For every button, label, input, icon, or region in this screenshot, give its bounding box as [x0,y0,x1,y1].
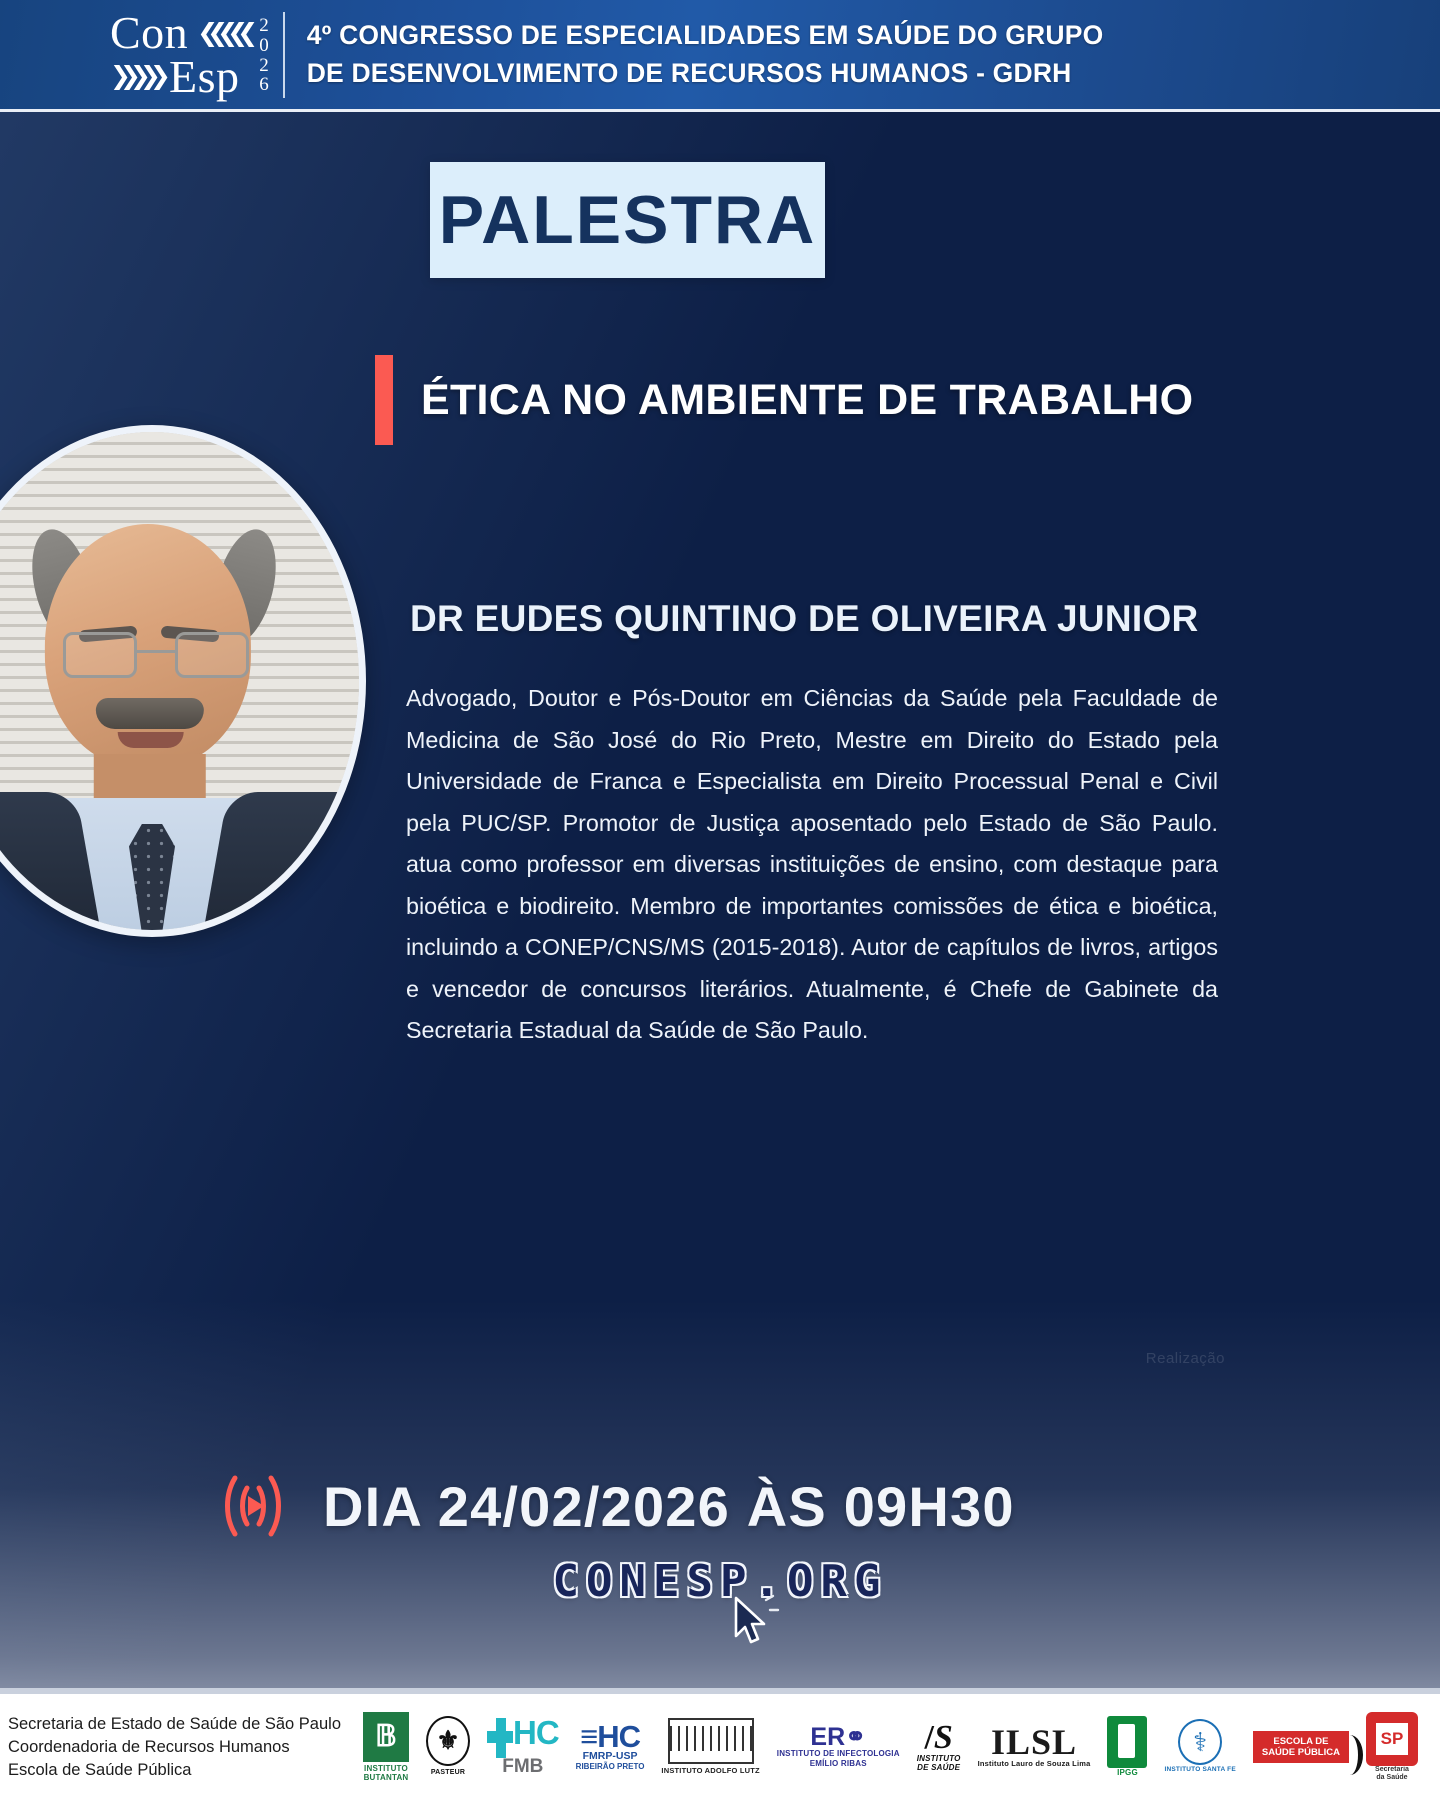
lecture-title: ÉTICA NO AMBIENTE DE TRABALHO [421,376,1193,425]
logo-wordmark: Con ❮❮❮❮❮ ❯❯❯❯❯ Esp [110,11,247,97]
hc-text: HC [513,1718,559,1748]
congress-title-line-2: DE DESENVOLVIMENTO DE RECURSOS HUMANOS -… [307,55,1104,93]
pasteur-caption: PASTEUR [431,1768,465,1778]
glasses-bridge [137,650,175,653]
logo-ilsl: ILSL Instituto Lauro de Souza Lima [978,1725,1091,1769]
poster-footer: Secretaria de Estado de Saúde de São Pau… [0,1688,1440,1800]
chevrons-left-icon: ❮❮❮❮❮ [197,22,247,44]
santa-fe-caption: INSTITUTO SANTA FE [1164,1765,1235,1775]
fmrp-caption: FMRP-USP [583,1751,638,1762]
fmb-text: FMB [502,1758,543,1776]
lens-right [175,632,249,678]
conesp-logo: Con ❮❮❮❮❮ ❯❯❯❯❯ Esp 2 0 2 6 [110,11,307,97]
logo-word-con: Con [110,11,188,54]
sp-caption: Secretariada Saúde [1375,1766,1409,1782]
butantan-icon: 𝔹 [363,1712,409,1762]
accent-bar [375,355,393,445]
congress-title-line-1: 4º CONGRESSO DE ESPECIALIDADES EM SAÚDE … [307,17,1104,55]
event-poster: Con ❮❮❮❮❮ ❯❯❯❯❯ Esp 2 0 2 6 [0,0,1440,1800]
esp-icon: ESCOLA DESAÚDE PÚBLICA [1253,1731,1349,1763]
lens-left [63,632,137,678]
event-date: DIA 24/02/2026 ÀS 09H30 [323,1474,1015,1539]
mouth [118,732,184,748]
year-digit-2: 0 [259,36,269,56]
logo-escola-saude-publica: ESCOLA DESAÚDE PÚBLICA [1253,1731,1349,1763]
emilio-ribas-icon: ER⚭ [810,1726,866,1749]
organizer-line-3: Escola de Saúde Pública [8,1759,341,1782]
logo-santa-fe: ⚕ INSTITUTO SANTA FE [1164,1719,1235,1775]
poster-header: Con ❮❮❮❮❮ ❯❯❯❯❯ Esp 2 0 2 6 [0,0,1440,112]
ilsl-caption: Instituto Lauro de Souza Lima [978,1759,1091,1769]
lecture-title-row: ÉTICA NO AMBIENTE DE TRABALHO [375,355,1400,445]
live-broadcast-icon [205,1466,301,1546]
speaker-name: DR EUDES QUINTINO DE OLIVEIRA JUNIOR [410,598,1400,640]
fmrp-subcaption: RIBEIRÃO PRETO [576,1762,645,1771]
logo-pasteur: ⚜ PASTEUR [426,1716,470,1778]
organizer-line-1: Secretaria de Estado de Saúde de São Pau… [8,1713,341,1736]
adolfo-lutz-building-icon [668,1718,754,1764]
butantan-caption: INSTITUTOBUTANTAN [364,1764,409,1783]
moustache [96,698,204,729]
event-date-row: DIA 24/02/2026 ÀS 09H30 [205,1466,1015,1546]
instituto-saude-icon: /S [924,1722,952,1754]
year-digit-3: 2 [259,56,269,76]
logo-word-esp: Esp [169,55,240,98]
ilsl-icon: ILSL [991,1725,1077,1759]
mouse-cursor-icon [726,1594,784,1657]
emilio-ribas-caption: INSTITUTO DE INFECTOLOGIAEMÍLIO RIBAS [777,1749,900,1768]
logo-emilio-ribas: ER⚭ INSTITUTO DE INFECTOLOGIAEMÍLIO RIBA… [777,1726,900,1768]
speaker-bio: Advogado, Doutor e Pós-Doutor em Ciência… [406,678,1218,1052]
hc-fmb-icon: HC [487,1718,559,1758]
ipgg-caption: IPGG [1117,1768,1138,1778]
chevrons-right-icon: ❯❯❯❯❯ [110,65,160,87]
pasteur-icon: ⚜ [426,1716,470,1766]
medical-cross-icon [487,1718,513,1758]
organizer-line-2: Coordenadoria de Recursos Humanos [8,1736,341,1759]
partner-logos: 𝔹 INSTITUTOBUTANTAN ⚜ PASTEUR HC FMB ≡ [363,1712,1418,1783]
logo-instituto-adolfo-lutz: INSTITUTO ADOLFO LUTZ [661,1718,759,1776]
palestra-badge-label: PALESTRA [439,181,816,259]
logo-fmrp-usp: ≡HC FMRP-USP RIBEIRÃO PRETO [576,1723,645,1771]
organizer-block: Secretaria de Estado de Saúde de São Pau… [8,1713,341,1782]
logo-governo-sao-paulo: SP Secretariada Saúde [1366,1712,1418,1782]
header-divider [283,12,285,98]
esp-swoosh-icon [1337,1735,1363,1775]
year-digit-4: 6 [259,75,269,95]
speaker-photo-inner [0,432,359,930]
logo-ipgg: IPGG [1107,1716,1147,1778]
fmrp-hc-icon: ≡HC [580,1723,640,1751]
santa-fe-icon: ⚕ [1178,1719,1222,1765]
instituto-saude-caption: INSTITUTODE SAÚDE [917,1754,961,1773]
ipgg-icon [1107,1716,1147,1768]
adolfo-lutz-caption: INSTITUTO ADOLFO LUTZ [661,1766,759,1776]
year-digit-1: 2 [259,16,269,36]
website-url[interactable]: CONESP.ORG [0,1556,1440,1607]
logo-butantan: 𝔹 INSTITUTOBUTANTAN [363,1712,409,1783]
watermark-text: Realização [1146,1350,1225,1367]
logo-hc-fmb: HC FMB [487,1718,559,1776]
logo-instituto-de-saude: /S INSTITUTODE SAÚDE [917,1722,961,1773]
logo-year: 2 0 2 6 [259,16,269,94]
sp-shield-icon: SP [1366,1712,1418,1766]
glasses-icon [63,632,249,684]
speaker-photo [0,425,366,937]
palestra-badge: PALESTRA [430,162,825,278]
congress-title: 4º CONGRESSO DE ESPECIALIDADES EM SAÚDE … [307,17,1104,92]
